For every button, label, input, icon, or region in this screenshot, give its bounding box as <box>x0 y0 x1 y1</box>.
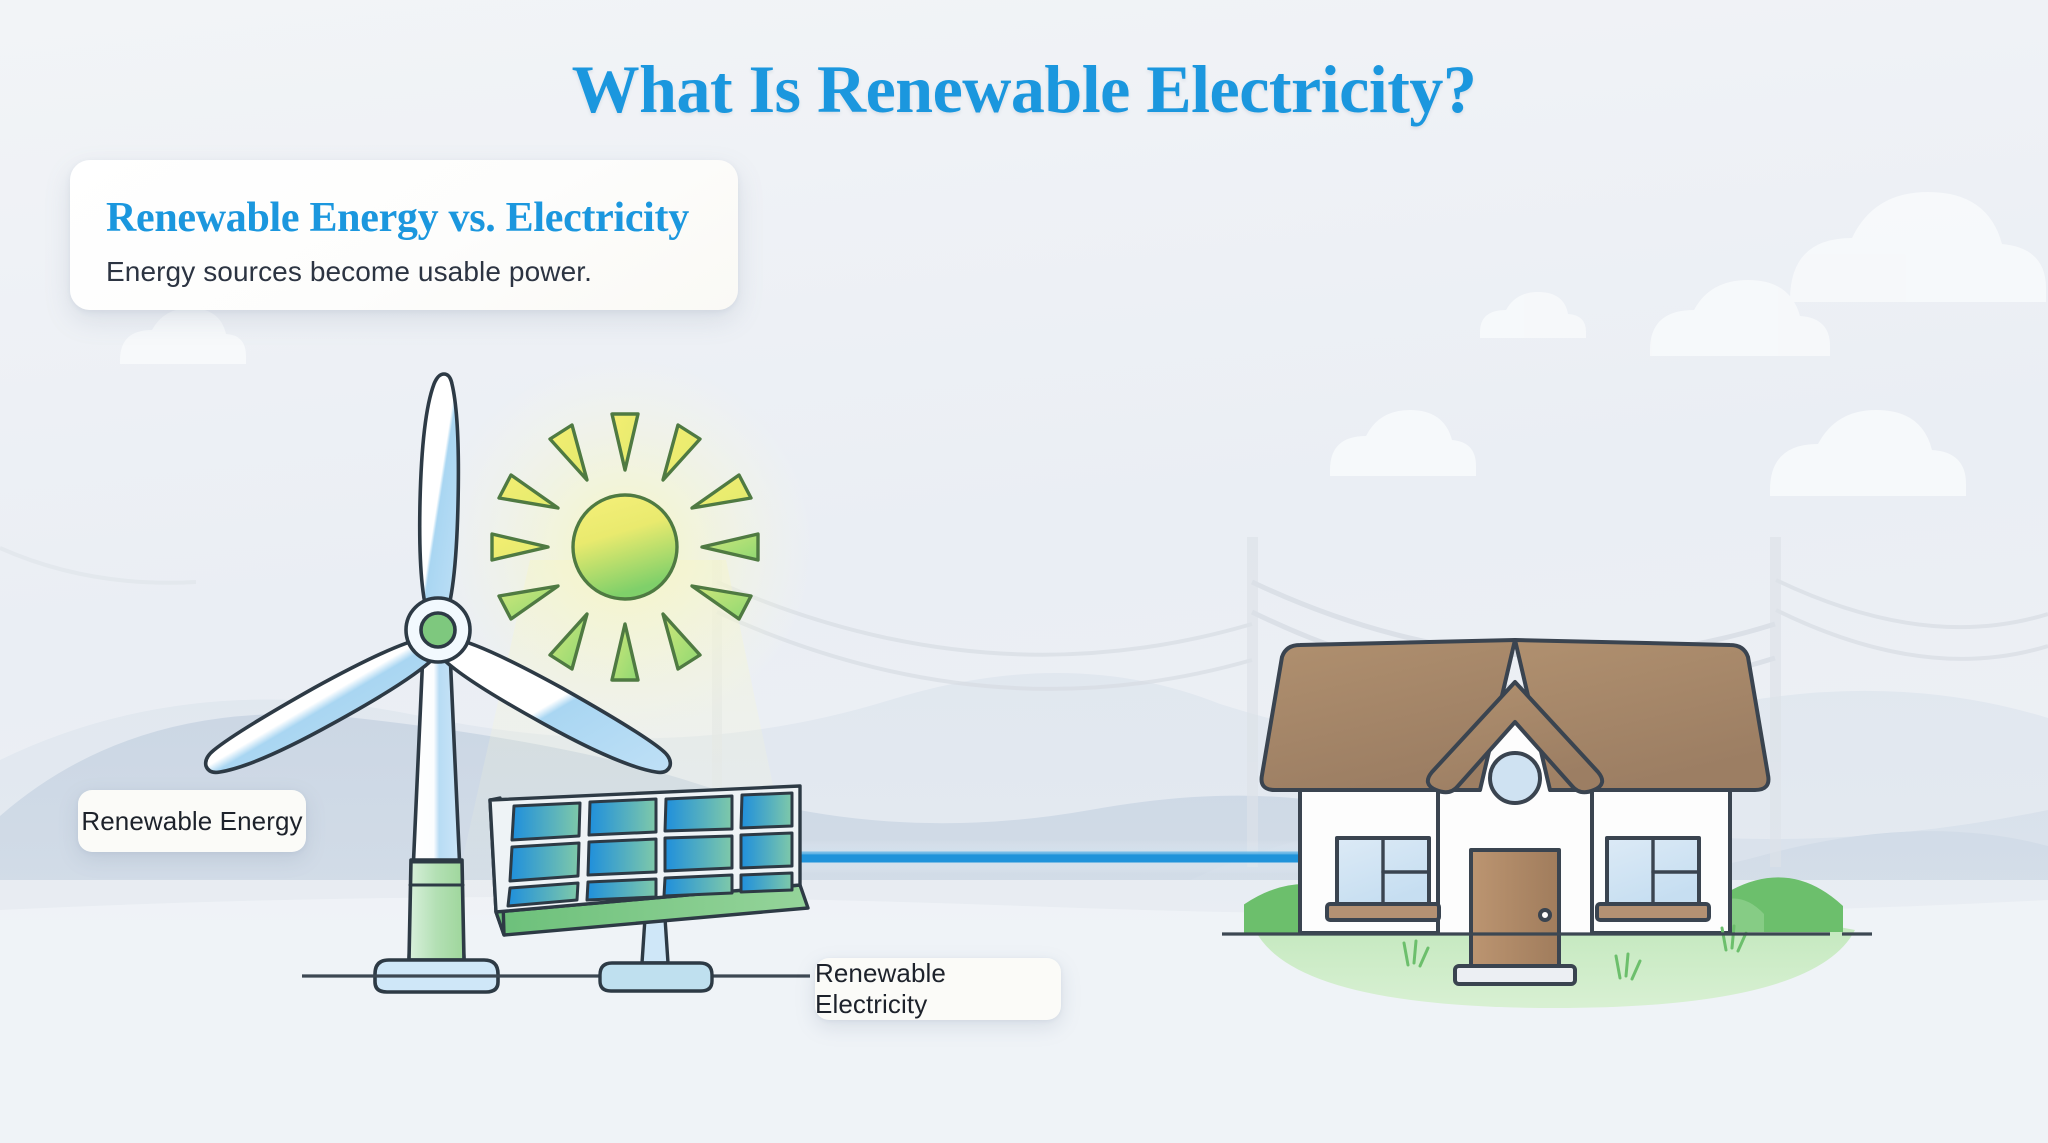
info-card-subtitle: Energy sources become usable power. <box>106 256 698 288</box>
sun-icon <box>492 414 758 680</box>
label-renewable-electricity-text: Renewable Electricity <box>815 958 1061 1020</box>
label-renewable-electricity: Renewable Electricity <box>815 958 1061 1020</box>
infographic-canvas: What Is Renewable Electricity? Renewable… <box>0 0 2048 1143</box>
label-renewable-energy-text: Renewable Energy <box>81 806 302 837</box>
solar-panel <box>490 786 808 991</box>
energy-transmission-line <box>770 840 1300 874</box>
label-renewable-energy: Renewable Energy <box>78 790 306 852</box>
info-card: Renewable Energy vs. Electricity Energy … <box>70 160 738 310</box>
info-card-heading: Renewable Energy vs. Electricity <box>106 196 698 240</box>
page-title: What Is Renewable Electricity? <box>0 50 2048 129</box>
